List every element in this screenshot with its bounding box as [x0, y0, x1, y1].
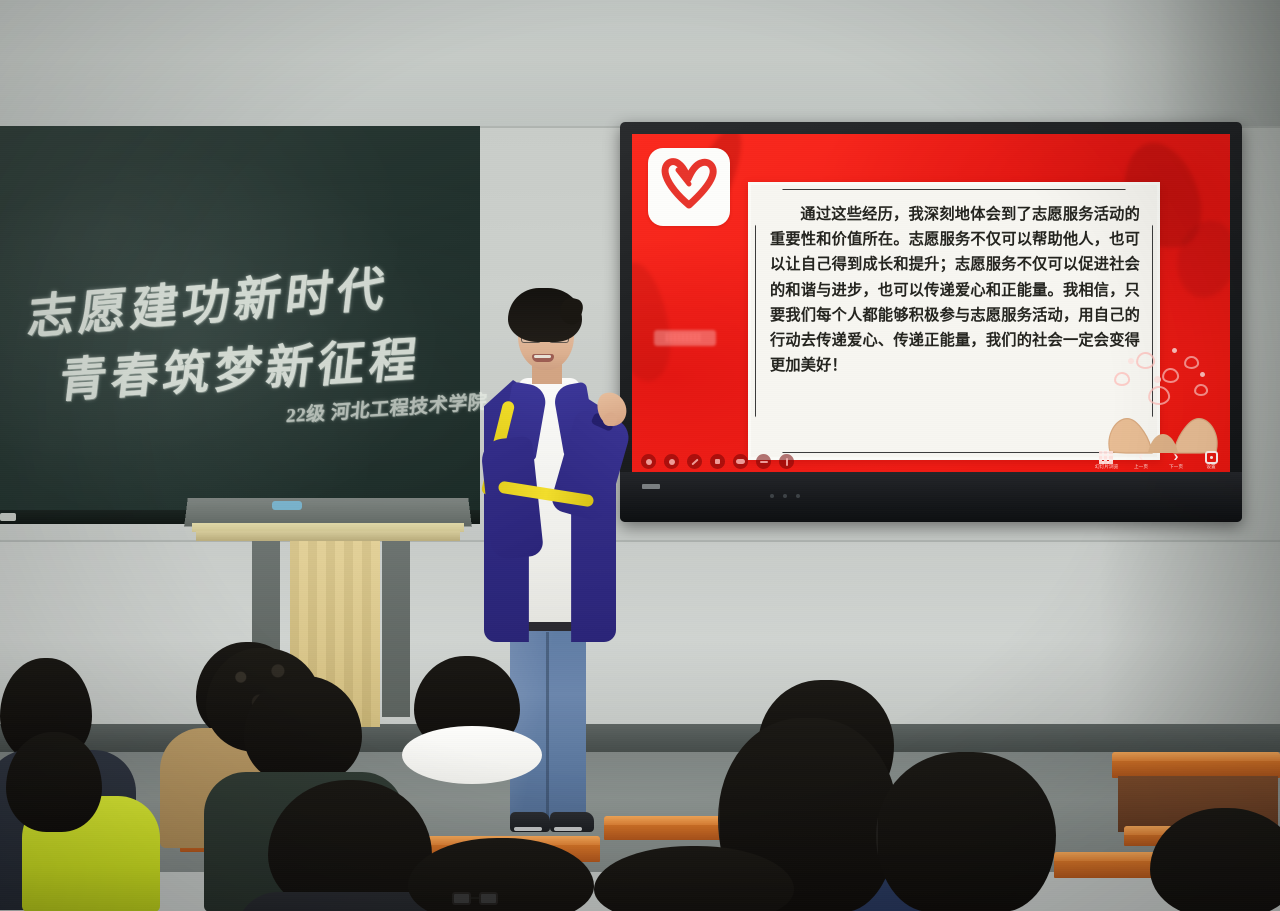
display-screen[interactable]: 通过这些经历，我深刻地体会到了志愿服务活动的重要性和价值所在。志愿服务不仅可以帮… — [632, 134, 1230, 472]
pointer-dot-icon[interactable] — [664, 454, 679, 469]
blackboard: 志愿建功新时代 青春筑梦新征程 22级 河北工程技术学院 — [0, 126, 480, 516]
next-slide-caption: 下一页 — [1165, 464, 1187, 470]
previous-slide-caption: 上一页 — [1130, 464, 1152, 470]
cupped-hands-illustration — [1104, 342, 1222, 454]
blue-marker — [272, 501, 302, 510]
chalk-stick — [0, 513, 16, 521]
ribbon-decoration-4 — [632, 259, 676, 385]
shape-square-icon[interactable] — [710, 454, 725, 469]
chalk-dust — [0, 126, 480, 516]
student-glasses — [452, 892, 498, 905]
desk-right-back — [1112, 752, 1280, 778]
next-slide-icon[interactable]: › 下一页 — [1165, 449, 1187, 470]
settings-caption: 设置 — [1200, 464, 1222, 470]
pen-icon[interactable] — [687, 454, 702, 469]
slide-annotation-toolbar[interactable] — [641, 454, 794, 469]
display-lower-bezel — [620, 472, 1242, 522]
more-options-icon[interactable] — [779, 454, 794, 469]
presentation-slide[interactable]: 通过这些经历，我深刻地体会到了志愿服务活动的重要性和价值所在。志愿服务不仅可以帮… — [632, 134, 1230, 472]
previous-slide-icon[interactable]: ‹ 上一页 — [1130, 449, 1152, 470]
wall-upper — [0, 0, 1280, 128]
display-brand-label — [642, 484, 660, 491]
interactive-smart-display[interactable]: 通过这些经历，我深刻地体会到了志愿服务活动的重要性和价值所在。志愿服务不仅可以帮… — [620, 122, 1242, 522]
slide-grid-icon[interactable]: 幻灯片浏览 — [1095, 451, 1117, 470]
slide-navigation-toolbar[interactable]: 幻灯片浏览 ‹ 上一页 › 下一页 设置 — [1095, 449, 1222, 470]
classroom-photo: 志愿建功新时代 青春筑梦新征程 22级 河北工程技术学院 — [0, 0, 1280, 911]
presenter-mouth — [532, 354, 554, 362]
list-item — [244, 676, 362, 784]
next-slide-glyph: › — [1165, 449, 1187, 464]
lectern-edge-lower — [196, 531, 460, 541]
presenter-hair — [508, 288, 582, 342]
heart-outline-logo — [648, 148, 730, 226]
settings-gear-icon[interactable]: 设置 — [1200, 451, 1222, 470]
eraser-icon[interactable] — [733, 454, 748, 469]
slide-grid-caption: 幻灯片浏览 — [1095, 464, 1117, 470]
list-item — [6, 732, 102, 832]
display-sensor-row — [770, 494, 800, 498]
slide-text-card: 通过这些经历，我深刻地体会到了志愿服务活动的重要性和价值所在。志愿服务不仅可以帮… — [748, 182, 1160, 460]
audience — [0, 620, 1280, 911]
record-dot-icon[interactable] — [641, 454, 656, 469]
previous-slide-glyph: ‹ — [1130, 449, 1152, 464]
minus-icon[interactable] — [756, 454, 771, 469]
slide-body-text: 通过这些经历，我深刻地体会到了志愿服务活动的重要性和价值所在。志愿服务不仅可以帮… — [770, 202, 1140, 379]
list-item — [402, 726, 542, 784]
list-item — [876, 752, 1056, 911]
decorative-light-strip — [654, 330, 716, 346]
